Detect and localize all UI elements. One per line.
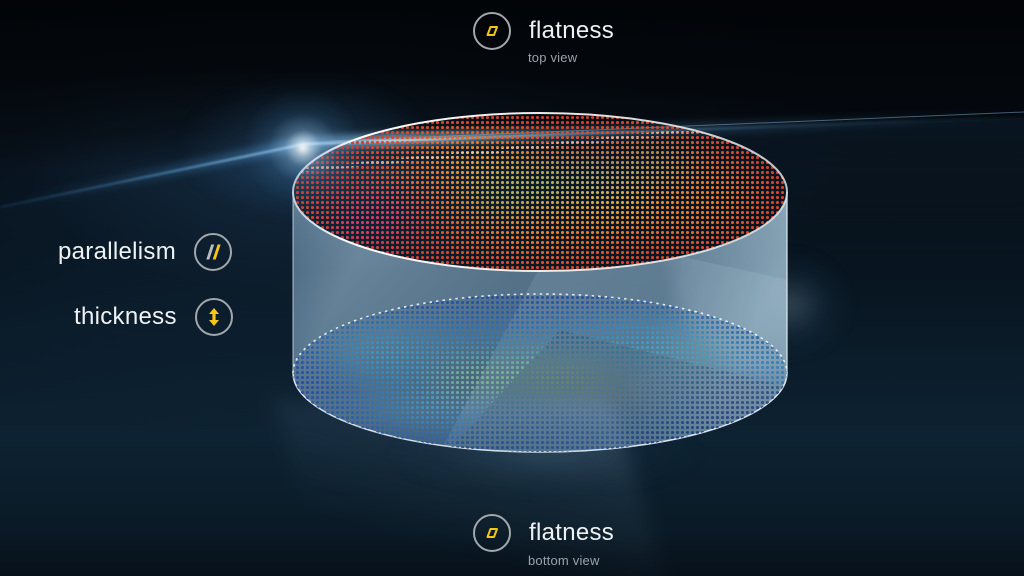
lens-flare-core: [238, 83, 368, 213]
flatness-top-label-group[interactable]: flatness: [473, 12, 614, 50]
flatness-bottom-label-group[interactable]: flatness: [473, 514, 614, 552]
thickness-double-arrow-icon: [195, 298, 233, 336]
flatness-bottom-sublabel: bottom view: [528, 553, 600, 568]
flatness-top-sublabel: top view: [528, 50, 577, 65]
parallelism-label: parallelism: [58, 238, 176, 266]
thickness-label-group[interactable]: thickness: [74, 298, 233, 336]
flatness-parallelogram-icon: [473, 514, 511, 552]
flatness-parallelogram-icon: [473, 12, 511, 50]
parallelism-label-group[interactable]: parallelism: [58, 233, 232, 271]
scene-root: flatness top view parallelism thickness: [0, 0, 1024, 576]
thickness-label: thickness: [74, 303, 177, 331]
flatness-top-label: flatness: [529, 17, 614, 45]
parallelism-double-slash-icon: [194, 233, 232, 271]
flatness-bottom-label: flatness: [529, 519, 614, 547]
